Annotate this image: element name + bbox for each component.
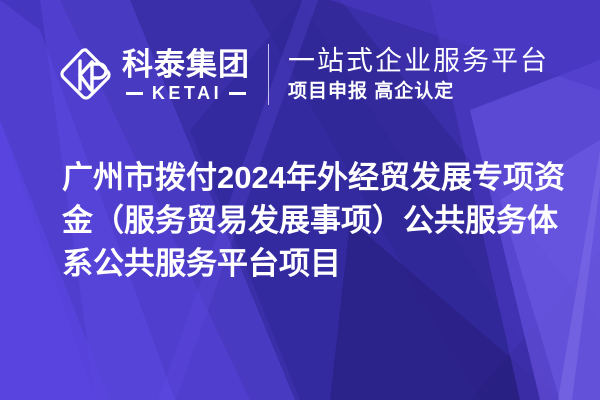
logo-dash-left-icon — [126, 92, 143, 95]
tagline-block: 一站式企业服务平台 项目申报 高企认定 — [288, 42, 549, 106]
tagline-primary: 一站式企业服务平台 — [288, 45, 549, 77]
banner-header: 科泰集团 KETAI 一站式企业服务平台 项目申报 高企认定 — [56, 38, 549, 110]
promo-banner: 科泰集团 KETAI 一站式企业服务平台 项目申报 高企认定 广州市拨付2024… — [0, 0, 600, 400]
ketai-kp-monogram-icon — [56, 45, 114, 103]
ketai-wordmark: 科泰集团 KETAI — [122, 48, 250, 103]
logo-company-name-en-row: KETAI — [122, 84, 250, 103]
logo-dash-right-icon — [229, 92, 246, 95]
logo-company-name-cn: 科泰集团 — [122, 48, 250, 82]
header-vertical-divider — [268, 44, 269, 105]
banner-title: 广州市拨付2024年外经贸发展专项资金（服务贸易发展事项）公共服务体系公共服务平… — [62, 156, 572, 285]
ketai-logo: 科泰集团 KETAI — [56, 38, 250, 110]
logo-company-name-en: KETAI — [143, 84, 229, 103]
tagline-secondary: 项目申报 高企认定 — [288, 80, 549, 104]
